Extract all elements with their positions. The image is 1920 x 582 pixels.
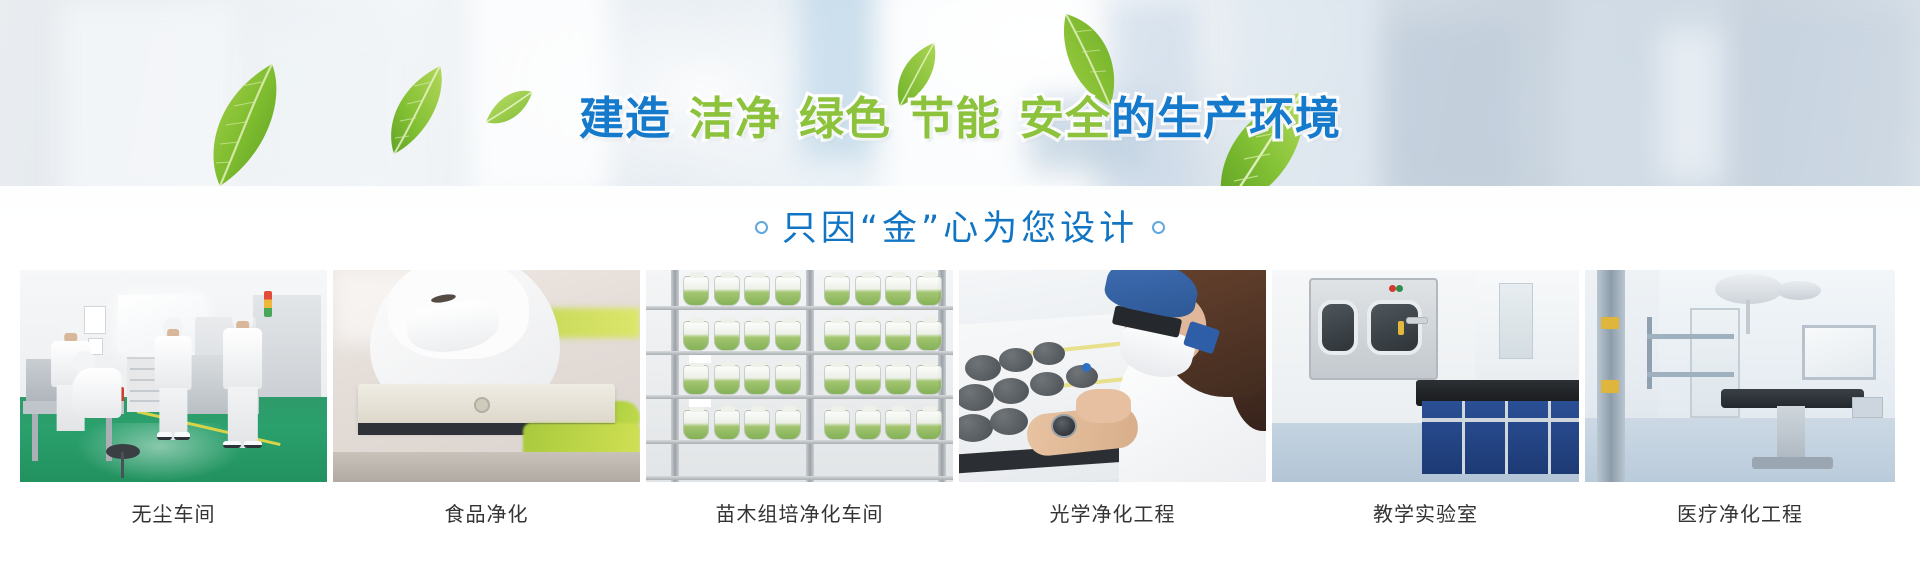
gallery-image-medical-cleanroom [1585, 270, 1895, 482]
title-segment-4: 安全 [1019, 96, 1111, 141]
subtitle-strip: 只因“金”心为您设计 [0, 186, 1920, 268]
gallery-item-medical-cleanroom[interactable] [1585, 270, 1895, 482]
circle-marker-icon [755, 221, 768, 234]
background-blur-shape [60, 0, 240, 186]
circle-marker-icon [1152, 221, 1165, 234]
title-segment-3: 节能 [909, 96, 1001, 141]
gallery-image-food-purification [333, 270, 640, 482]
gallery-image-plant-tissue-culture [646, 270, 953, 482]
subtitle: 只因“金”心为您设计 [0, 200, 1920, 251]
subtitle-text: 只因“金”心为您设计 [782, 209, 1138, 249]
gallery-caption: 光学净化工程 [959, 500, 1266, 540]
gallery-item-optical-cleanroom[interactable] [959, 270, 1266, 482]
title-segment-1: 洁净 [689, 96, 781, 141]
gallery-strip [20, 270, 1900, 482]
gallery-captions: 无尘车间 食品净化 苗木组培净化车间 光学净化工程 教学实验室 医疗净化工程 [20, 500, 1900, 540]
title-segment-0: 建造 [579, 96, 671, 141]
hero-banner: 建造洁净绿色节能安全的生产环境 [0, 0, 1920, 186]
title-segment-5: 的生产环境 [1111, 96, 1341, 141]
gallery-caption: 无尘车间 [20, 500, 327, 540]
background-blur-shape [1560, 0, 1730, 186]
banner-page: 建造洁净绿色节能安全的生产环境 只因“金”心为您设计 [0, 0, 1920, 582]
title-segment-2: 绿色 [799, 96, 891, 141]
gallery-item-cleanroom-assembly[interactable] [20, 270, 327, 482]
page-title: 建造洁净绿色节能安全的生产环境 [0, 96, 1920, 141]
gallery-caption: 食品净化 [333, 500, 640, 540]
gallery-image-teaching-laboratory [1272, 270, 1579, 482]
gallery-image-cleanroom-assembly [20, 270, 327, 482]
gallery-caption: 苗木组培净化车间 [646, 500, 953, 540]
gallery-item-teaching-laboratory[interactable] [1272, 270, 1579, 482]
gallery-item-plant-tissue-culture[interactable] [646, 270, 953, 482]
gallery-image-optical-cleanroom [959, 270, 1266, 482]
gallery-item-food-purification[interactable] [333, 270, 640, 482]
gallery-caption: 医疗净化工程 [1585, 500, 1895, 540]
gallery-caption: 教学实验室 [1272, 500, 1579, 540]
